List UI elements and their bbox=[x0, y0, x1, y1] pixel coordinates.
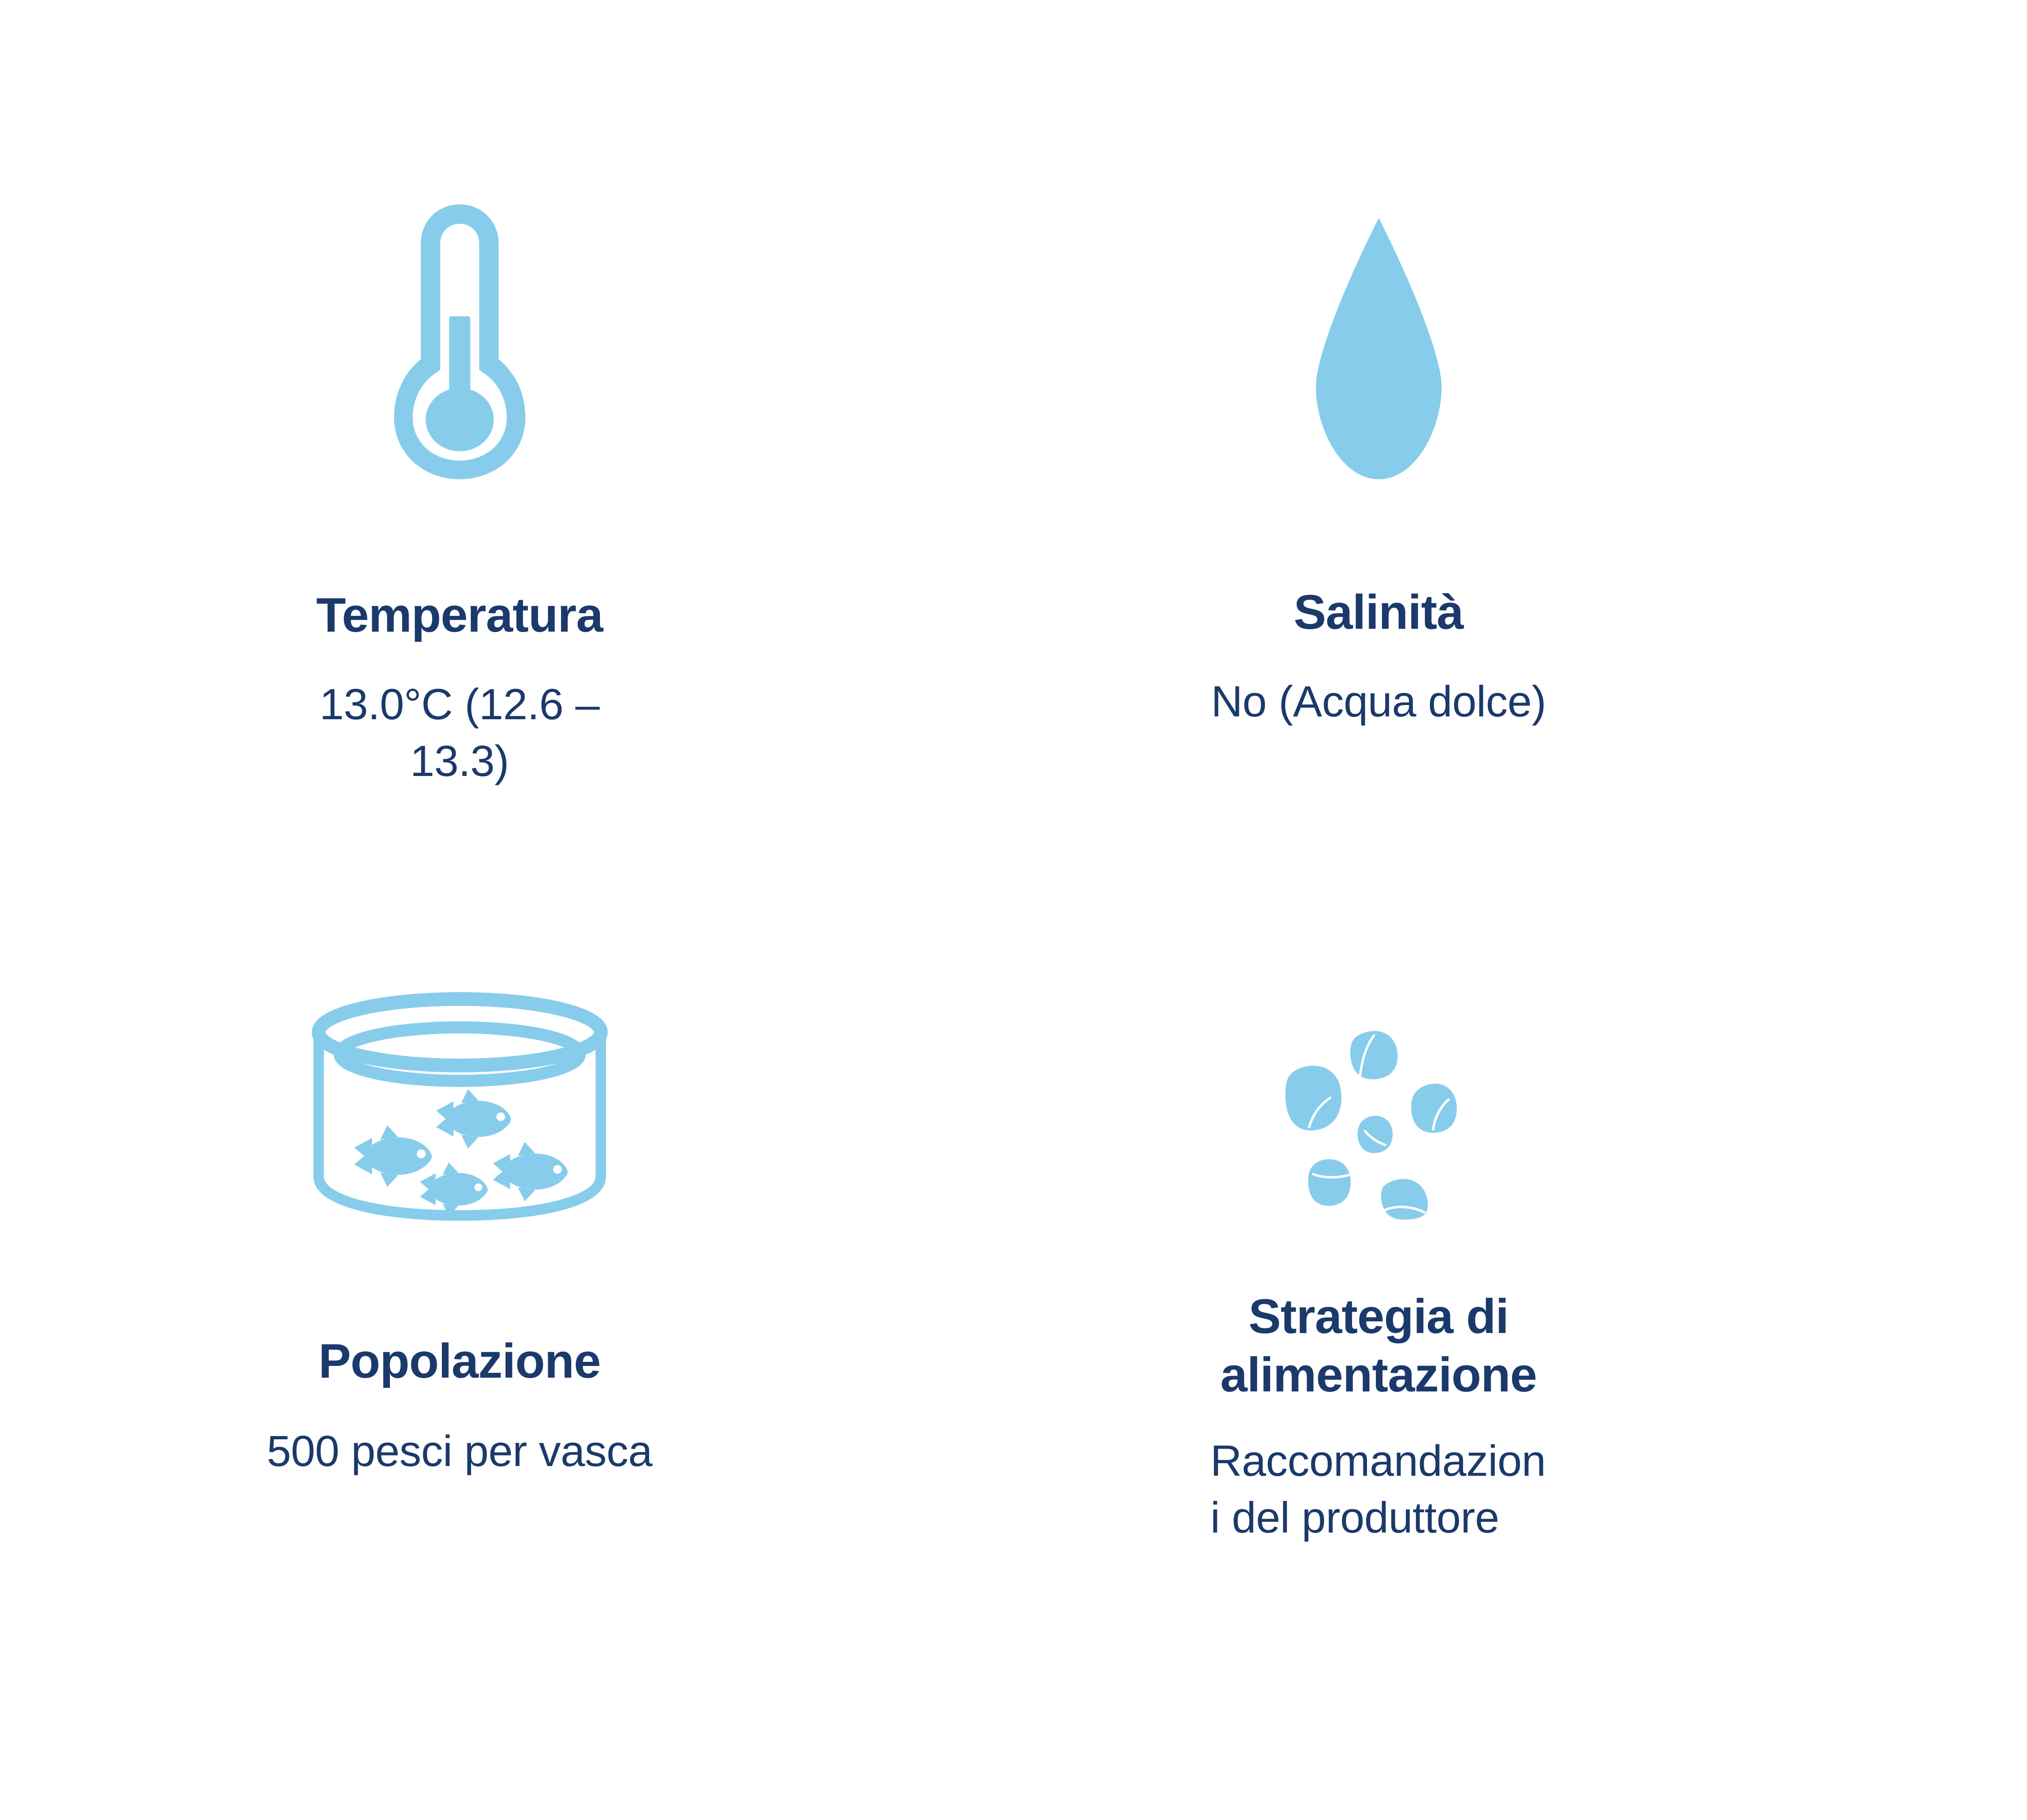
salinita-text-block: Salinità No (Acqua dolce) bbox=[1184, 583, 1573, 730]
parameter-card-salinita: Salinità No (Acqua dolce) bbox=[919, 0, 1838, 912]
water-drop-icon bbox=[1213, 0, 1545, 482]
aquaculture-parameters-infographic: Temperatura 13.0°C (12.6 – 13.3) Salinit… bbox=[0, 0, 2027, 1820]
parameter-card-grid: Temperatura 13.0°C (12.6 – 13.3) Salinit… bbox=[0, 0, 2027, 1820]
temperatura-text-block: Temperatura 13.0°C (12.6 – 13.3) bbox=[265, 586, 654, 790]
parameter-card-popolazione: Popolazione 500 pesci per vasca bbox=[0, 912, 919, 1820]
card-title-popolazione: Popolazione bbox=[265, 1332, 654, 1390]
card-title-temperatura: Temperatura bbox=[265, 586, 654, 644]
card-title-strategia-alimentazione: Strategia di alimentazione bbox=[1200, 1287, 1557, 1404]
card-title-salinita: Salinità bbox=[1184, 583, 1573, 641]
feed-pellets-icon bbox=[1213, 912, 1545, 1220]
parameter-card-durata: Durata 70 giorni bbox=[1838, 0, 2027, 912]
card-value-salinita: No (Acqua dolce) bbox=[1184, 673, 1573, 730]
parameter-card-temperatura: Temperatura 13.0°C (12.6 – 13.3) bbox=[0, 0, 919, 912]
parameter-card-regime-illuminazione: Regime di illuminazione 24 ora bbox=[1838, 912, 2027, 1820]
thermometer-icon bbox=[294, 0, 626, 482]
card-value-strategia-alimentazione: Raccomandazioni del produttore bbox=[1211, 1432, 1547, 1546]
parameter-card-strategia-alimentazione: Strategia di alimentazione Raccomandazio… bbox=[919, 912, 1838, 1820]
card-value-popolazione: 500 pesci per vasca bbox=[265, 1423, 654, 1479]
strategia-alimentazione-text-block: Strategia di alimentazione Raccomandazio… bbox=[1200, 1287, 1557, 1546]
card-value-temperatura: 13.0°C (12.6 – 13.3) bbox=[265, 676, 654, 790]
popolazione-text-block: Popolazione 500 pesci per vasca bbox=[265, 1332, 654, 1479]
fish-tank-icon bbox=[294, 912, 626, 1220]
